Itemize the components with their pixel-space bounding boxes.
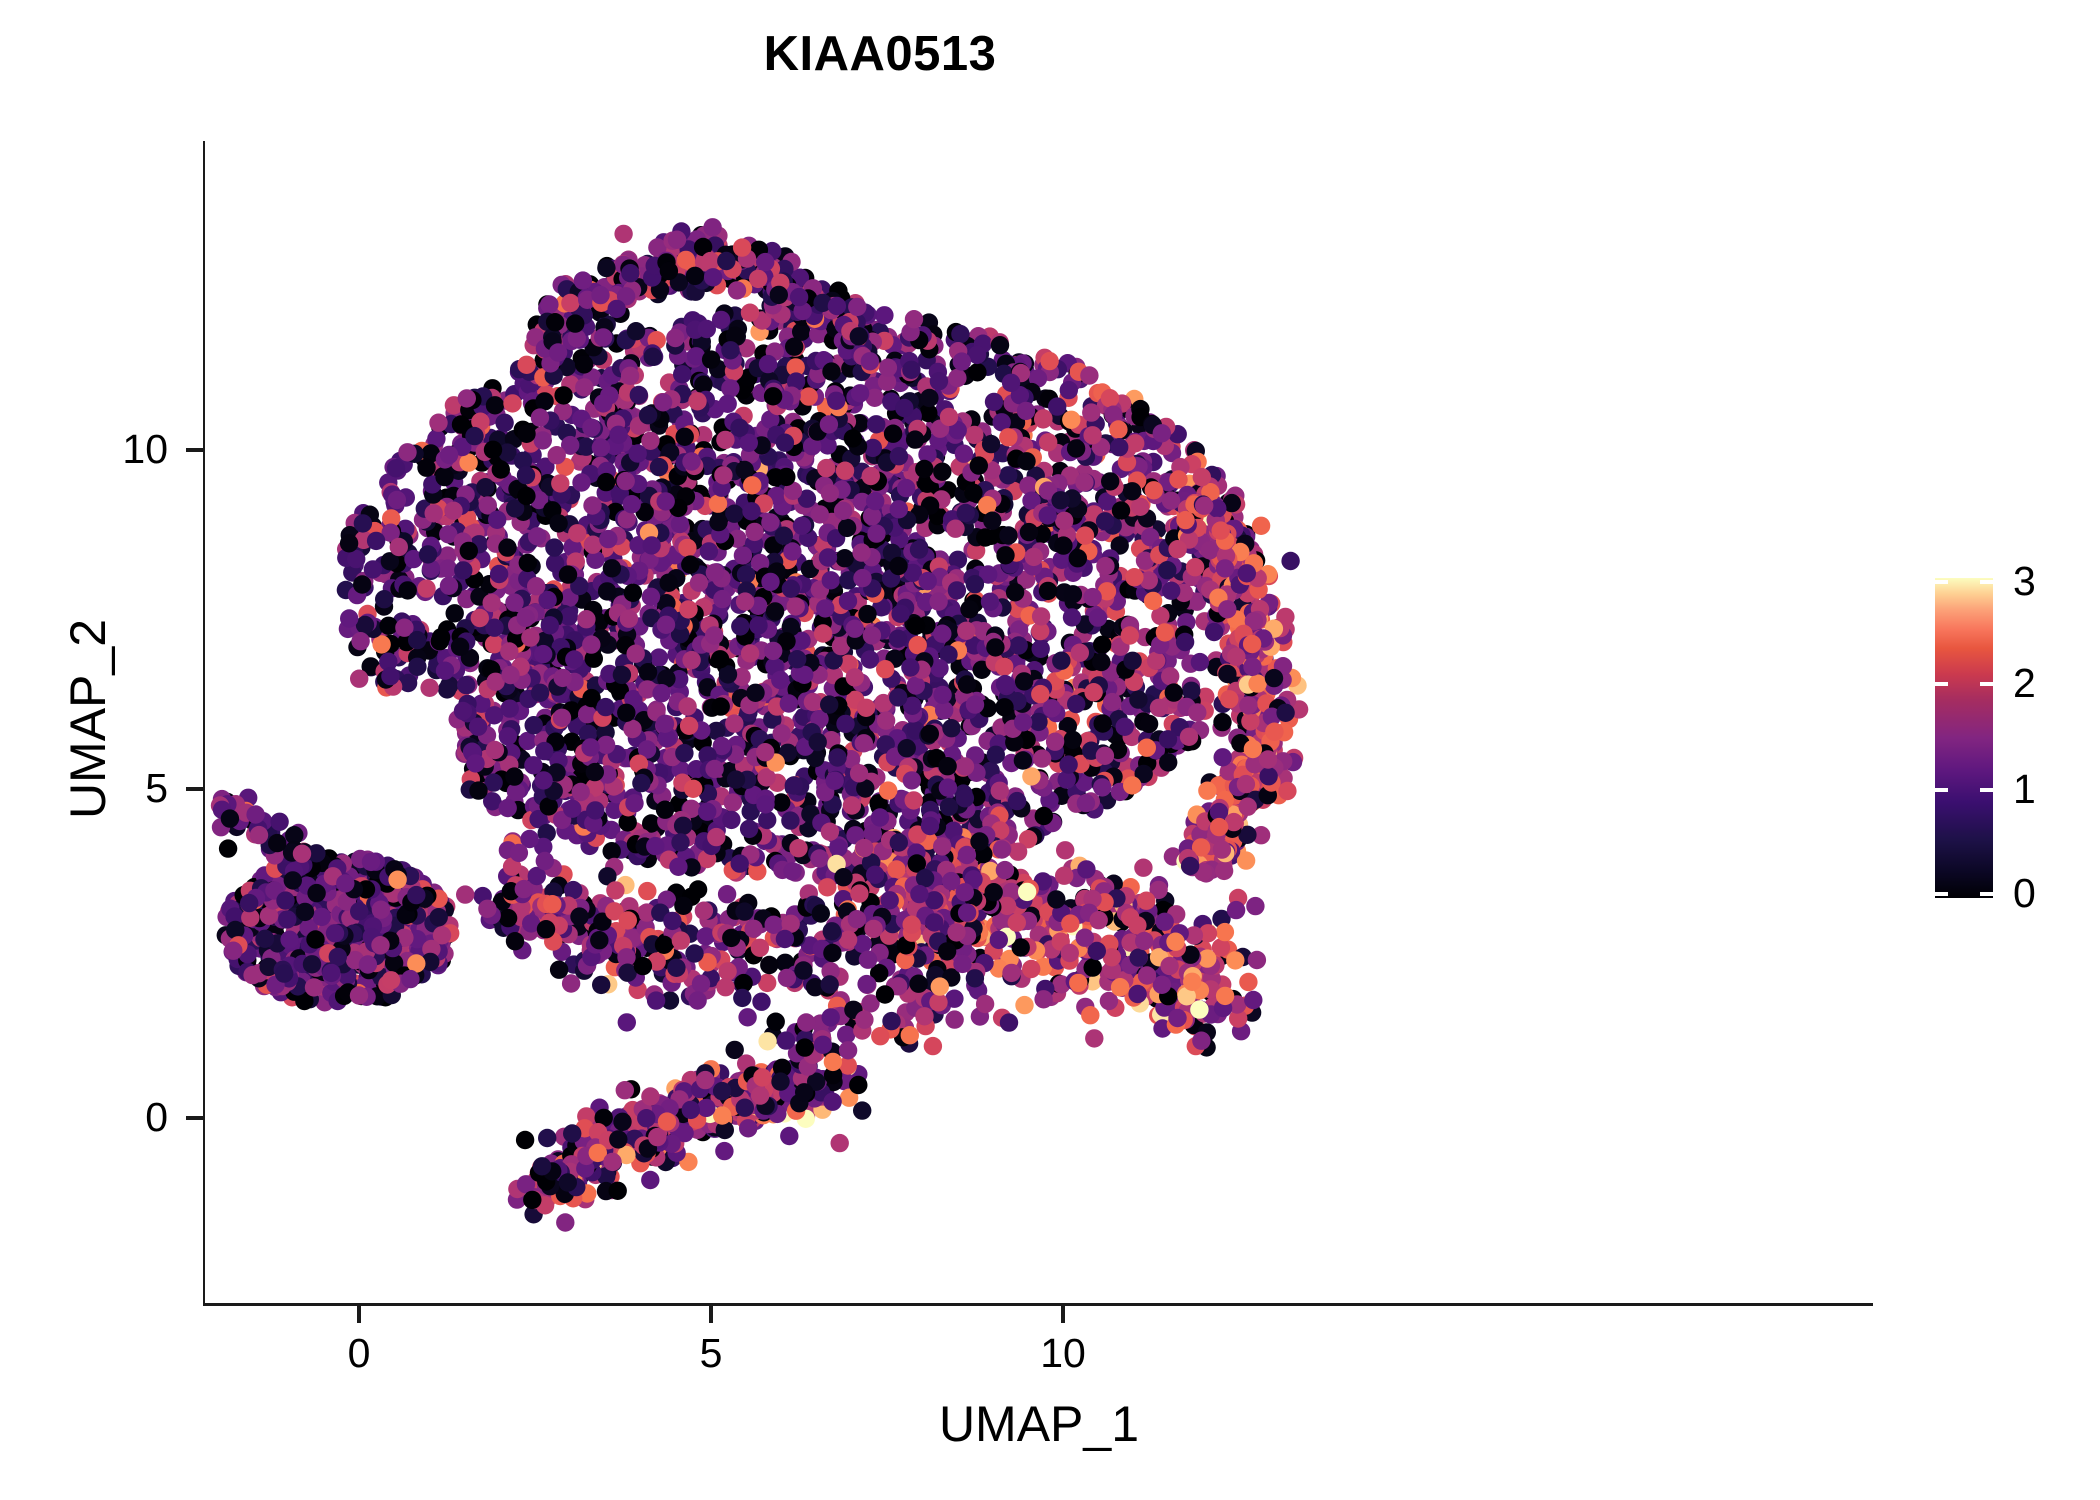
- legend-label-2: 2: [2013, 663, 2083, 704]
- y-axis-label: UMAP_2: [59, 369, 117, 1069]
- legend-label-1: 1: [2013, 769, 2083, 810]
- legend-label-3: 3: [2013, 561, 2083, 602]
- legend-tick-mark-2b: [1980, 682, 1993, 686]
- color-legend: 3 2 1 0: [1935, 578, 1993, 898]
- legend-tick-mark-2: [1935, 682, 1948, 686]
- x-axis-label: UMAP_1: [349, 1395, 1729, 1453]
- legend-tick-mark-1: [1935, 788, 1948, 792]
- y-tick-label-0: 0: [48, 1097, 168, 1138]
- legend-label-0: 0: [2013, 873, 2083, 914]
- x-tick-mark-10: [1061, 1306, 1065, 1323]
- legend-tick-mark-0b: [1980, 892, 1993, 896]
- legend-tick-mark-0: [1935, 892, 1948, 896]
- x-tick-label-0: 0: [299, 1333, 419, 1374]
- legend-tick-mark-1b: [1980, 788, 1993, 792]
- scatter-points-layer: [205, 141, 1873, 1303]
- x-tick-mark-5: [709, 1306, 713, 1323]
- plot-panel: [205, 141, 1873, 1303]
- y-tick-mark-5: [186, 787, 203, 791]
- legend-tick-mark-3b: [1980, 580, 1993, 584]
- page-title: KIAA0513: [0, 26, 1760, 82]
- umap-feature-plot: KIAA0513 10 5 0 0 5 10 UMAP_1 UMAP_2 3 2…: [0, 0, 2100, 1500]
- x-tick-label-5: 5: [651, 1333, 771, 1374]
- x-tick-mark-0: [357, 1306, 361, 1323]
- x-tick-label-10: 10: [1003, 1333, 1123, 1374]
- legend-tick-mark-3: [1935, 580, 1948, 584]
- y-tick-mark-0: [186, 1116, 203, 1120]
- colorbar-gradient: [1935, 578, 1993, 898]
- y-tick-mark-10: [186, 448, 203, 452]
